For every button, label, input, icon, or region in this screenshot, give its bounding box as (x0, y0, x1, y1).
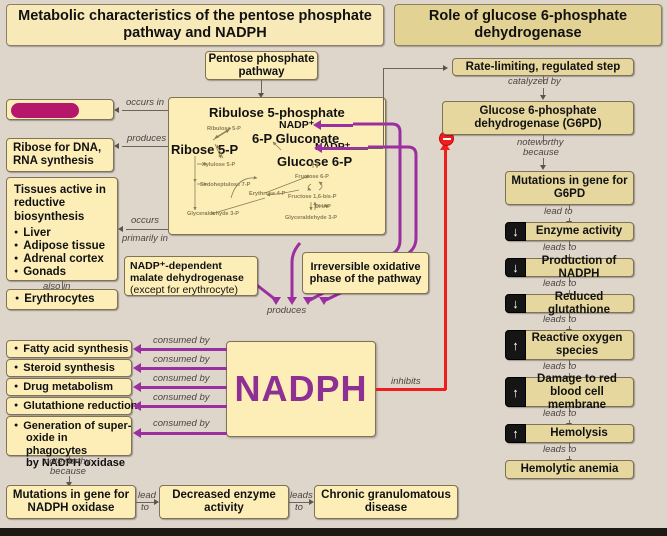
connector-glucose6p-up (383, 68, 384, 148)
purple-line-nadp-top (321, 124, 353, 127)
up-arrow-icon-hemolysis: ↑ (505, 424, 526, 443)
consumer-list-4: Glutathione reduction (14, 400, 138, 412)
box-production-of-nadph: ↓ Production of NADPH (505, 258, 634, 277)
label-consumed-by-1: consumed by (153, 336, 210, 346)
connector-to-ratelimiting (383, 68, 445, 69)
purple-arrowhead-consumed-3 (133, 382, 141, 392)
box-chronic-granulomatous-disease-label: Chronic granulomatous disease (319, 489, 453, 515)
label-lead-to-enzyme: lead to (544, 207, 573, 217)
label-occurs-primarily-in-2: primarily in (122, 234, 168, 244)
down-arrow-icon-reduced-glutathione: ↓ (505, 294, 526, 313)
box-pathway-map: Ribulose 5-phosphate 6-P Gluconate Gluco… (168, 97, 386, 235)
box-redacted-tissue (6, 99, 114, 120)
purple-arrowhead-consumed-1 (133, 344, 141, 354)
connector-glucose6p-out (353, 148, 383, 149)
up-arrow-icon-damage-rbc: ↑ (505, 377, 526, 407)
consumer-label-superoxide-1: Generation of super- (14, 420, 127, 432)
box-tissues-title: Tissues active in reductive biosynthesis (14, 184, 111, 224)
label-occurs-in: occurs in (126, 98, 164, 108)
label-leads-to-hemolysis: leads to (543, 409, 576, 419)
box-pentose-phosphate-pathway: Pentose phosphate pathway (205, 51, 318, 80)
redaction-pill (11, 103, 79, 118)
arrowhead-to-ratelimiting (443, 65, 448, 71)
box-erythrocytes-label: Erythrocytes (15, 293, 95, 306)
connector-occurs-in (122, 110, 168, 111)
box-pentose-phosphate-pathway-label: Pentose phosphate pathway (206, 53, 317, 79)
purple-line-consumed-2 (141, 367, 227, 370)
box-damage-red-blood-cell-membrane-label: Damage to red blood cell membrane (525, 373, 629, 412)
consumer-label-drug-metabolism: Drug metabolism (14, 381, 113, 393)
consumer-label-fatty-acid-synthesis: Fatty acid synthesis (14, 343, 128, 355)
purple-arrowhead-nadp-bottom (314, 143, 322, 153)
tissue-item-adipose-tissue: Adipose tissue (14, 240, 111, 253)
connector-occurs-primarily-in (126, 229, 168, 230)
box-hemolysis: ↑ Hemolysis (505, 424, 634, 443)
consumer-list-1: Fatty acid synthesis (14, 343, 128, 355)
label-catalyzed-by: catalyzed by (508, 77, 561, 87)
pathway-map-arrows (169, 98, 387, 236)
malate-dh-line-3: (except for erythrocyte) (130, 285, 252, 297)
box-erythrocytes: Erythrocytes (6, 289, 118, 310)
red-line-vertical-inhibit (444, 146, 447, 390)
box-rate-limiting-step: Rate-limiting, regulated step (452, 58, 634, 76)
box-ribose-dna-rna: Ribose for DNA, RNA synthesis (6, 138, 114, 172)
erythrocytes-list: Erythrocytes (15, 293, 95, 306)
purple-line-consumed-1 (141, 348, 227, 351)
box-mutations-gene-g6pd: Mutations in gene for G6PD (505, 171, 634, 205)
box-reduced-glutathione: ↓ Reduced glutathione (505, 294, 634, 313)
up-arrow-icon-reactive-oxygen-species: ↑ (505, 330, 526, 360)
label-lead-to-1a: lead (138, 491, 156, 501)
label-consumed-by-4: consumed by (153, 393, 210, 403)
box-reduced-glutathione-label: Reduced glutathione (525, 291, 633, 317)
consumer-label-superoxide-2: oxide in phagocytes (14, 432, 127, 457)
label-lead-to-1b: to (141, 503, 149, 513)
consumer-list-5: Generation of super- (14, 420, 127, 432)
tissues-list: Liver Adipose tissue Adrenal cortex Gona… (14, 227, 111, 279)
purple-line-consumed-4 (141, 405, 227, 408)
malate-dh-line-2: malate dehydrogenase (130, 273, 252, 285)
label-leads-to-anemia: leads to (543, 445, 576, 455)
box-tissues-active: Tissues active in reductive biosynthesis… (6, 177, 118, 281)
box-g6pd: Glucose 6-phosphate dehydrogenase (G6PD) (442, 101, 634, 135)
purple-arrowhead-consumed-2 (133, 363, 141, 373)
diagram-canvas: Metabolic characteristics of the pentose… (0, 0, 667, 536)
label-occurs-primarily-in-1: occurs (131, 216, 159, 226)
tissue-item-liver: Liver (14, 227, 111, 240)
label-noteworthy-2: because (50, 467, 86, 477)
purple-arrowhead-nadph-4 (319, 297, 329, 305)
arrowhead-occurs-in (114, 107, 119, 113)
purple-line-consumed-5 (141, 432, 227, 435)
label-leads-to-nadph-prod: leads to (543, 243, 576, 253)
label-leads-to-glutathione: leads to (543, 279, 576, 289)
box-consumer-drug-metabolism: Drug metabolism (6, 378, 132, 396)
box-rate-limiting-step-label: Rate-limiting, regulated step (466, 61, 621, 74)
red-line-horizontal-from-nadph (376, 388, 446, 391)
consumer-label-glutathione-reduction: Glutathione reduction (14, 400, 138, 412)
box-consumer-superoxide-generation: Generation of super- oxide in phagocytes… (6, 416, 132, 456)
down-arrow-icon-enzyme-activity: ↓ (505, 222, 526, 241)
arrowhead-produces-left (114, 143, 119, 149)
label-leads-to-2a: leads (290, 491, 313, 501)
box-hemolysis-label: Hemolysis (550, 427, 608, 440)
arrowhead-occurs-primarily-in (118, 226, 123, 232)
banner-right-text: Role of glucose 6-phosphate dehydrogenas… (395, 8, 661, 41)
bottom-edge-strip (0, 528, 667, 536)
box-consumer-glutathione-reduction: Glutathione reduction (6, 397, 132, 415)
box-enzyme-activity-label: Enzyme activity (536, 225, 622, 238)
box-g6pd-label: Glucose 6-phosphate dehydrogenase (G6PD) (447, 105, 629, 131)
box-nadph: NADPH (226, 341, 376, 437)
box-mutations-nadph-oxidase: Mutations in gene for NADPH oxidase (6, 485, 136, 519)
consumer-label-steroid-synthesis: Steroid synthesis (14, 362, 115, 374)
label-leads-to-2b: to (295, 503, 303, 513)
cofactor-nadp-top: NADP⁺ (279, 120, 314, 132)
down-arrow-icon-production-nadph: ↓ (505, 258, 526, 277)
box-mutations-nadph-oxidase-label: Mutations in gene for NADPH oxidase (11, 489, 131, 515)
box-irreversible-oxidative-phase: Irreversible oxidative phase of the path… (302, 252, 429, 294)
banner-right-title: Role of glucose 6-phosphate dehydrogenas… (394, 4, 662, 46)
box-reactive-oxygen-species-label: Reactive oxygen species (525, 332, 629, 358)
consumer-list-3: Drug metabolism (14, 381, 113, 393)
purple-arrowhead-nadph-2 (287, 297, 297, 305)
nadph-label: NADPH (234, 368, 367, 410)
purple-arrowhead-nadph-1 (271, 297, 281, 305)
purple-arrowhead-nadp-top (313, 120, 321, 130)
box-ribose-dna-rna-label: Ribose for DNA, RNA synthesis (13, 142, 113, 168)
box-consumer-fatty-acid-synthesis: Fatty acid synthesis (6, 340, 132, 358)
arrowhead-noteworthy-g6pd (540, 165, 546, 170)
label-leads-to-ros: leads to (543, 315, 576, 325)
label-produces-left: produces (127, 134, 166, 144)
tissue-item-adrenal-cortex: Adrenal cortex (14, 253, 111, 266)
box-consumer-steroid-synthesis: Steroid synthesis (6, 359, 132, 377)
label-produces-center: produces (267, 306, 306, 316)
label-inhibits: inhibits (391, 377, 421, 387)
arrowhead-catalyzed-by (540, 95, 546, 100)
purple-arrowhead-consumed-5 (133, 428, 141, 438)
purple-arrowhead-nadph-3 (303, 297, 313, 305)
box-malate-dehydrogenase: NADP⁺-dependent malate dehydrogenase (ex… (124, 256, 258, 296)
box-irreversible-oxidative-phase-label: Irreversible oxidative phase of the path… (307, 261, 424, 286)
label-consumed-by-5: consumed by (153, 419, 210, 429)
box-decreased-enzyme-activity-label: Decreased enzyme activity (164, 489, 284, 515)
box-chronic-granulomatous-disease: Chronic granulomatous disease (314, 485, 458, 519)
box-reactive-oxygen-species: ↑ Reactive oxygen species (505, 330, 634, 360)
tissue-item-gonads: Gonads (14, 266, 111, 279)
purple-arrowhead-consumed-4 (133, 401, 141, 411)
box-hemolytic-anemia-label: Hemolytic anemia (521, 463, 619, 476)
label-consumed-by-2: consumed by (153, 355, 210, 365)
banner-left-title: Metabolic characteristics of the pentose… (6, 4, 384, 46)
box-damage-red-blood-cell-membrane: ↑ Damage to red blood cell membrane (505, 377, 634, 407)
label-consumed-by-3: consumed by (153, 374, 210, 384)
banner-left-text: Metabolic characteristics of the pentose… (7, 8, 383, 41)
consumer-list-2: Steroid synthesis (14, 362, 115, 374)
box-enzyme-activity: ↓ Enzyme activity (505, 222, 634, 241)
label-noteworthy-g6pd-2: because (523, 148, 559, 158)
pathway-map-inner: Ribulose 5-phosphate 6-P Gluconate Gluco… (169, 98, 385, 234)
label-leads-to-damage: leads to (543, 362, 576, 372)
box-hemolytic-anemia: Hemolytic anemia (505, 460, 634, 479)
box-decreased-enzyme-activity: Decreased enzyme activity (159, 485, 289, 519)
connector-produces-left (122, 146, 168, 147)
box-mutations-gene-g6pd-label: Mutations in gene for G6PD (510, 175, 629, 201)
purple-line-consumed-3 (141, 386, 227, 389)
box-production-of-nadph-label: Production of NADPH (525, 255, 633, 281)
